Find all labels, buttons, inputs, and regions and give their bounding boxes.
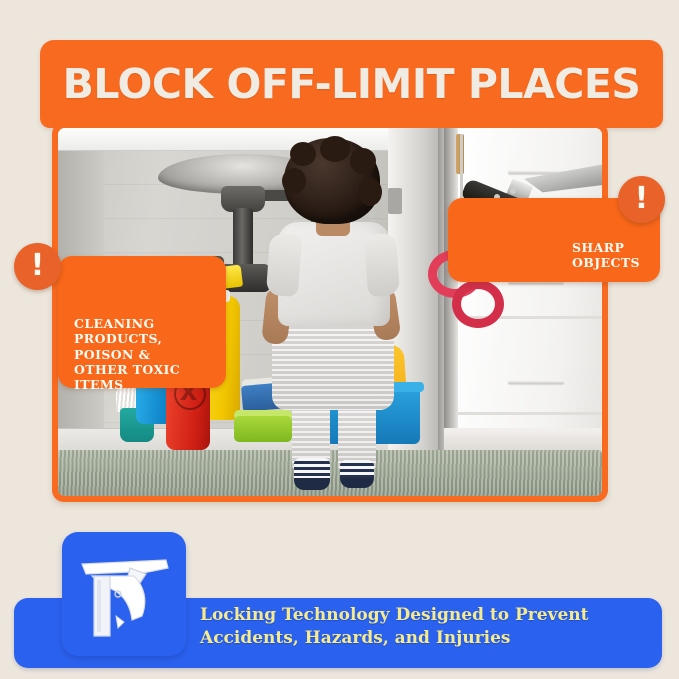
knife-rivet [510,188,516,194]
tailpiece-pipe [233,208,253,270]
callout-cleaning-products: CLEANING PRODUCTS, POISON & OTHER TOXIC … [58,256,226,388]
toddler-sock-toe-left [294,478,330,490]
poster-canvas: BLOCK OFF-LIMIT PLACES [0,0,679,679]
hair-curl [350,148,376,174]
toddler-sleeve-left [266,233,302,297]
toddler [254,138,404,478]
callout-cleaning-products-label: CLEANING PRODUCTS, POISON & OTHER TOXIC … [74,316,186,392]
header-banner: BLOCK OFF-LIMIT PLACES [40,40,663,128]
callout-sharp-objects-label: SHARP OBJECTS [572,240,648,271]
exclamation-icon: ! [31,251,45,281]
floor-strip [444,428,602,452]
hair-curl [358,178,382,206]
warning-badge-sharp-objects: ! [618,176,665,223]
page-title: BLOCK OFF-LIMIT PLACES [63,60,641,108]
scissors-ring-lower [452,280,504,328]
drawer-handle [508,380,564,384]
toddler-sleeve-right [364,233,400,297]
exclamation-icon: ! [635,184,649,214]
cabinet-lock-icon [72,542,176,646]
toddler-sock-toe-right [340,478,374,488]
hair-curl [282,168,306,194]
drawer-seam [458,412,602,415]
hair-curl [320,136,350,162]
hair-curl [290,142,316,166]
footer-icon-tile [62,532,186,656]
footer-tagline: Locking Technology Designed to Prevent A… [200,604,620,650]
warning-badge-cleaning-products: ! [14,243,61,290]
